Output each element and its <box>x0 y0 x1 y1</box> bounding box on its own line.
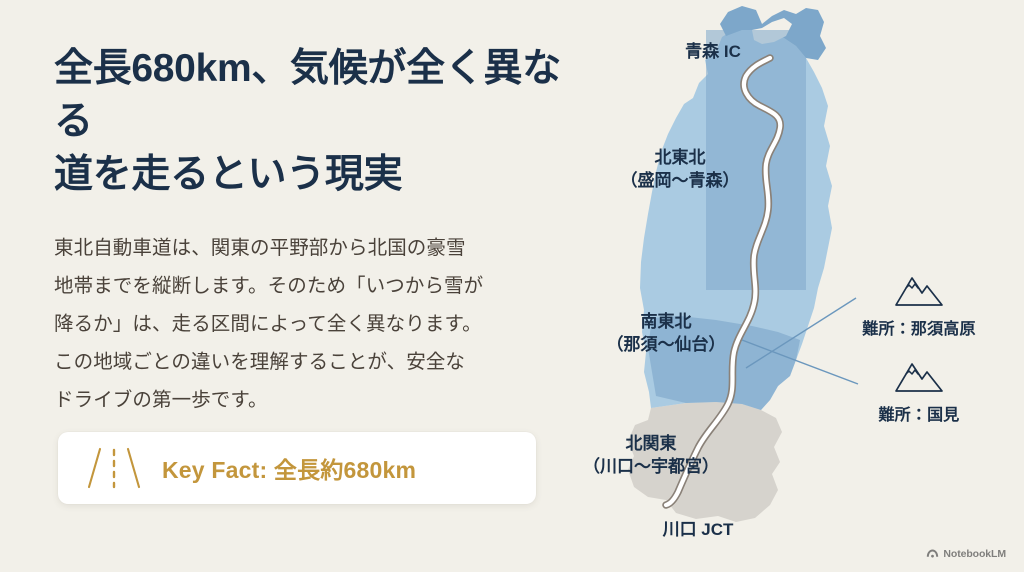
body-paragraph: 東北自動車道は、関東の平野部から北国の豪雪 地帯までを縦断します。そのため「いつ… <box>54 229 594 419</box>
map-label-kawaguchi-jct: 川口 JCT <box>618 518 778 541</box>
callout-kunimi-label: 難所：国見 <box>844 401 994 425</box>
page-title: 全長680km、気候が全く異なる 道を走るという現実 <box>54 42 594 201</box>
key-fact-card: Key Fact: 全長約680km <box>58 432 536 504</box>
map-label-minami-tohoku: 南東北 （那須〜仙台） <box>576 310 756 357</box>
callout-kunimi: 難所：国見 <box>844 358 994 425</box>
mountain-icon <box>893 358 945 394</box>
notebooklm-logo-icon <box>926 547 939 560</box>
map-label-aomori-ic: 青森 IC <box>648 40 778 63</box>
map-label-kita-kanto: 北関東 （川口〜宇都宮） <box>556 432 746 479</box>
callout-nasu-label: 難所：那須高原 <box>844 315 994 339</box>
callout-nasu: 難所：那須高原 <box>844 272 994 339</box>
map-panel: 青森 IC 北東北 （盛岡〜青森） 南東北 （那須〜仙台） 北関東 （川口〜宇都… <box>556 0 1024 572</box>
slide-root: 全長680km、気候が全く異なる 道を走るという現実 東北自動車道は、関東の平野… <box>0 0 1024 572</box>
watermark-label: NotebookLM <box>943 548 1006 560</box>
map-label-kita-tohoku: 北東北 （盛岡〜青森） <box>590 146 770 193</box>
road-icon <box>86 445 142 491</box>
text-column: 全長680km、気候が全く異なる 道を走るという現実 東北自動車道は、関東の平野… <box>54 42 594 419</box>
key-fact-label: Key Fact: 全長約680km <box>162 451 416 485</box>
notebooklm-watermark: NotebookLM <box>926 547 1006 560</box>
mountain-icon <box>893 272 945 308</box>
